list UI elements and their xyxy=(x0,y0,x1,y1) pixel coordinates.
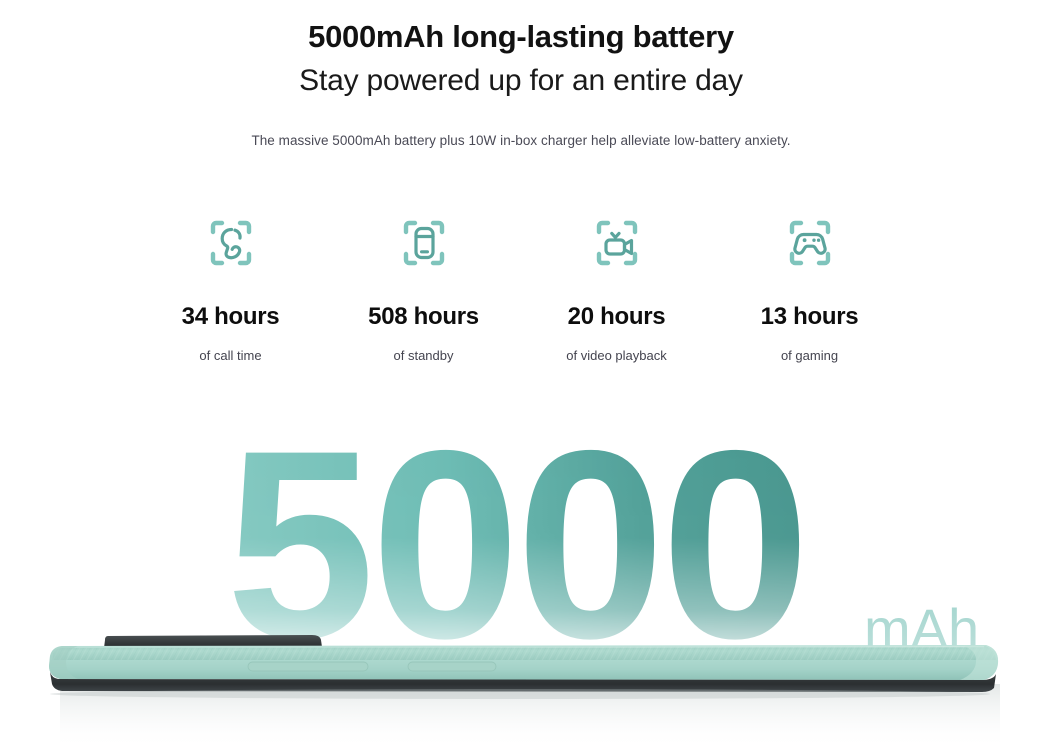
page-headline: 5000mAh long-lasting battery xyxy=(0,18,1042,57)
battery-stats-row: 34 hours of call time 508 hours of stan xyxy=(134,205,906,363)
video-camera-icon xyxy=(579,205,655,281)
smartphone-icon xyxy=(386,205,462,281)
phone-edge-fade xyxy=(0,600,1042,749)
stat-item-standby: 508 hours of standby xyxy=(327,205,520,363)
page-subheadline: Stay powered up for an entire day xyxy=(0,61,1042,100)
stat-label: of video playback xyxy=(566,348,666,363)
product-phone-image xyxy=(0,600,1042,749)
stat-label: of standby xyxy=(394,348,454,363)
stat-value: 13 hours xyxy=(761,303,859,331)
stat-item-call-time: 34 hours of call time xyxy=(134,205,327,363)
phone-call-icon xyxy=(193,205,269,281)
stat-value: 20 hours xyxy=(568,303,666,331)
gamepad-icon xyxy=(772,205,848,281)
stat-item-video-playback: 20 hours of video playback xyxy=(520,205,713,363)
battery-feature-page: 5000mAh long-lasting battery Stay powere… xyxy=(0,0,1042,749)
stat-value: 34 hours xyxy=(182,303,280,331)
stat-item-gaming: 13 hours of gaming xyxy=(713,205,906,363)
phone-side-profile-svg xyxy=(0,600,1042,749)
stat-label: of call time xyxy=(199,348,261,363)
stat-value: 508 hours xyxy=(368,303,479,331)
page-description: The massive 5000mAh battery plus 10W in-… xyxy=(0,133,1042,148)
stat-label: of gaming xyxy=(781,348,838,363)
header-block: 5000mAh long-lasting battery Stay powere… xyxy=(0,18,1042,100)
